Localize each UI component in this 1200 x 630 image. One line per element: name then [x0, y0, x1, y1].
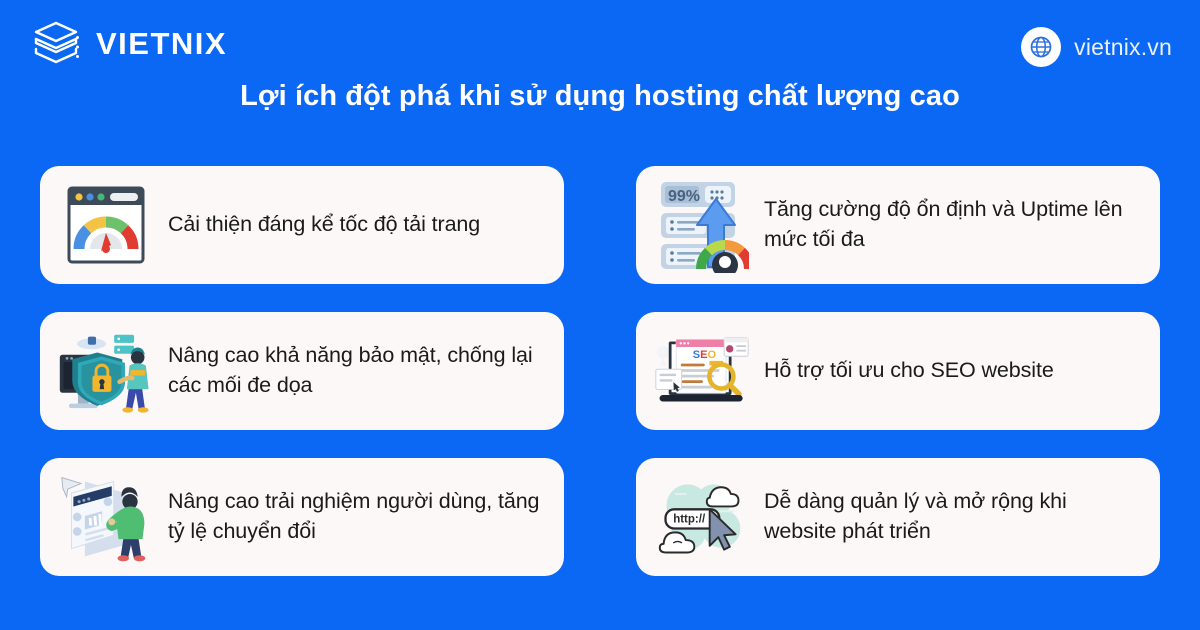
- uptime-value-label: 99%: [668, 188, 700, 205]
- site-url-group[interactable]: vietnix.vn: [1021, 27, 1172, 67]
- server-uptime-icon: 99%: [654, 177, 750, 273]
- benefit-card-text: Hỗ trợ tối ưu cho SEO website: [764, 356, 1054, 386]
- brand-name: VIETNIX: [96, 26, 227, 62]
- globe-icon: [1021, 27, 1061, 67]
- benefit-card-user-experience[interactable]: Nâng cao trải nghiệm người dùng, tăng tỷ…: [40, 458, 564, 576]
- browser-speedometer-icon: [58, 177, 154, 273]
- benefit-card-scalability[interactable]: http:// Dễ dàng quản lý và mở rộng khi w…: [636, 458, 1160, 576]
- benefits-grid: Cải thiện đáng kể tốc độ tải trang 99%: [40, 166, 1160, 576]
- site-url-text: vietnix.vn: [1074, 34, 1172, 61]
- benefit-card-text: Tăng cường độ ổn định và Uptime lên mức …: [764, 195, 1144, 254]
- benefit-card-text: Nâng cao khả năng bảo mật, chống lại các…: [168, 341, 548, 400]
- page-header: VIETNIX vietnix.vn: [0, 0, 1200, 80]
- benefit-card-text: Cải thiện đáng kể tốc độ tải trang: [168, 210, 480, 240]
- benefit-card-security[interactable]: Nâng cao khả năng bảo mật, chống lại các…: [40, 312, 564, 430]
- seo-label: S: [693, 349, 700, 361]
- benefit-card-page-speed[interactable]: Cải thiện đáng kể tốc độ tải trang: [40, 166, 564, 284]
- shield-lock-security-icon: [58, 323, 154, 419]
- svg-text:O: O: [708, 349, 717, 361]
- brand-logo-group[interactable]: VIETNIX: [30, 18, 227, 70]
- benefit-card-text: Nâng cao trải nghiệm người dùng, tăng tỷ…: [168, 487, 548, 546]
- page-title: Lợi ích đột phá khi sử dụng hosting chất…: [0, 80, 1200, 113]
- seo-laptop-search-icon: S E O: [654, 323, 750, 419]
- stacked-layers-icon: [30, 18, 82, 70]
- cloud-url-cursor-icon: http://: [654, 469, 750, 565]
- url-protocol-label: http://: [673, 514, 706, 526]
- user-experience-dashboard-icon: [58, 469, 154, 565]
- svg-text:E: E: [700, 349, 707, 361]
- benefit-card-uptime[interactable]: 99%: [636, 166, 1160, 284]
- benefit-card-seo[interactable]: S E O: [636, 312, 1160, 430]
- benefit-card-text: Dễ dàng quản lý và mở rộng khi website p…: [764, 487, 1144, 546]
